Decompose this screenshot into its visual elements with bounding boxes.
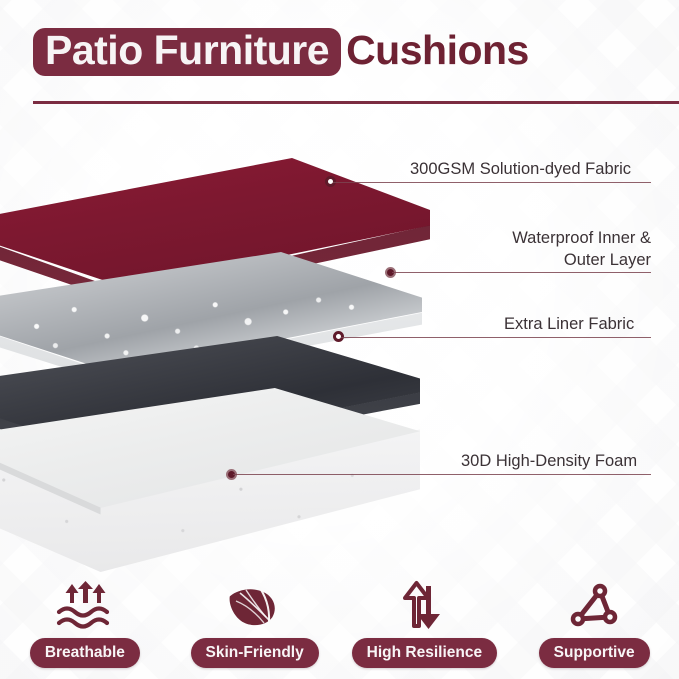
product-layer-stack [0,140,440,550]
arrows-over-waves-icon [53,580,117,632]
header: Patio Furniture Cushions [0,26,679,96]
page-title: Patio Furniture Cushions [33,26,529,78]
annotation-fabric-leader-line [333,182,651,183]
feature-high-resilience-label[interactable]: High Resilience [352,638,497,669]
annotation-liner-label: Extra Liner Fabric [504,313,634,335]
annotation-waterproof-label-line2: Outer Layer [351,249,651,271]
annotation-liner-leader-line [341,337,651,338]
triangle-nodes-icon [566,580,622,632]
title-plain-text: Cushions [341,30,529,74]
feature-supportive[interactable]: Supportive [509,556,679,668]
title-underline-rule [33,101,679,104]
feature-skin-friendly-label[interactable]: Skin-Friendly [191,638,319,669]
annotation-waterproof-leader-line [392,272,651,273]
feather-icon [226,580,284,632]
infographic-canvas: Patio Furniture Cushions 300GSM Solution… [0,0,679,679]
title-badge-highlight: Patio Furniture [33,28,341,76]
up-down-arrows-icon [399,580,449,632]
feature-high-resilience[interactable]: High Resilience [340,556,510,668]
annotation-fabric-label: 300GSM Solution-dyed Fabric [410,158,631,180]
annotation-foam-label: 30D High-Density Foam [461,450,637,472]
feature-breathable-label[interactable]: Breathable [30,638,140,669]
feature-badge-row: Breathable Skin-Friendly [0,556,679,668]
annotation-waterproof-label-line1: Waterproof Inner & [351,227,651,249]
feature-supportive-label[interactable]: Supportive [539,638,650,669]
annotation-foam-leader-line [233,474,651,475]
feature-breathable[interactable]: Breathable [0,556,170,668]
feature-skin-friendly[interactable]: Skin-Friendly [170,556,340,668]
